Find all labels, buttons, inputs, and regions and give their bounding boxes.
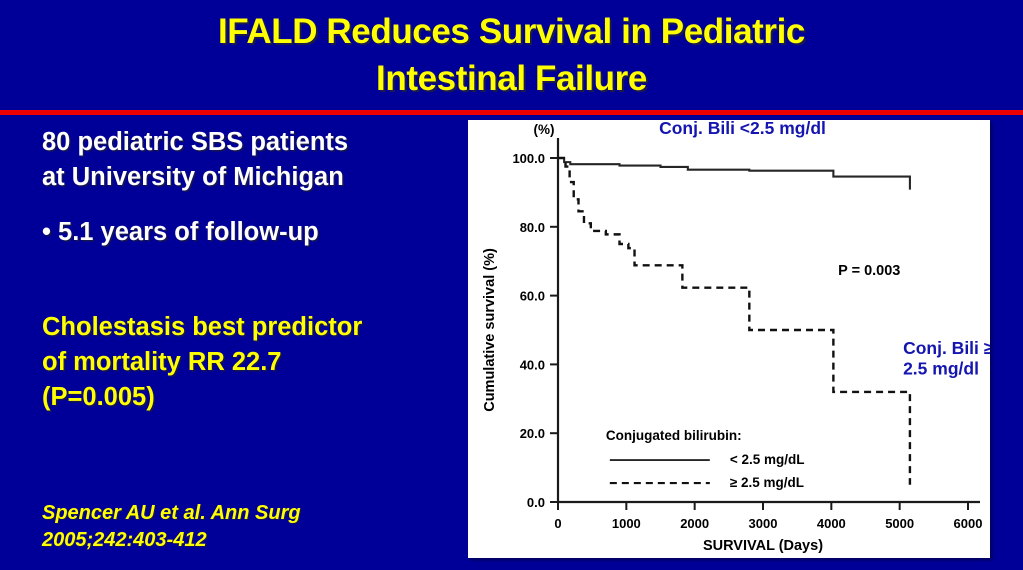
x-tick-label: 1000 bbox=[612, 516, 641, 531]
survival-chart-panel: 0.020.040.060.080.0100.0(%)0100020003000… bbox=[468, 120, 990, 558]
finding-line-2: of mortality RR 22.7 bbox=[42, 345, 452, 380]
x-tick-label: 0 bbox=[554, 516, 561, 531]
y-tick-label: 80.0 bbox=[520, 220, 545, 235]
cohort-line-2: at University of Michigan bbox=[42, 160, 452, 195]
slide-root: IFALD Reduces Survival in Pediatric Inte… bbox=[0, 0, 1023, 570]
chart-annotation-1: Conj. Bili <2.5 mg/dl bbox=[659, 120, 826, 138]
bullet-followup: • 5.1 years of follow-up bbox=[42, 215, 452, 250]
finding-block: Cholestasis best predictor of mortality … bbox=[42, 310, 452, 415]
y-axis-title: Cumulative survival (%) bbox=[482, 248, 498, 412]
title-divider-rule bbox=[0, 110, 1023, 115]
y-tick-label: 40.0 bbox=[520, 357, 545, 372]
y-unit-label: (%) bbox=[534, 122, 555, 137]
kaplan-meier-chart: 0.020.040.060.080.0100.0(%)0100020003000… bbox=[468, 120, 990, 558]
survival-curve-1 bbox=[558, 158, 910, 190]
y-tick-label: 100.0 bbox=[512, 151, 545, 166]
finding-line-1: Cholestasis best predictor bbox=[42, 310, 452, 345]
legend-label-1: < 2.5 mg/dL bbox=[730, 452, 805, 467]
page-title: IFALD Reduces Survival in Pediatric Inte… bbox=[0, 8, 1023, 102]
y-tick-label: 20.0 bbox=[520, 426, 545, 441]
chart-annotation-3: Conj. Bili ≥ bbox=[903, 338, 990, 358]
x-tick-label: 2000 bbox=[680, 516, 709, 531]
chart-annotation-2: P = 0.003 bbox=[838, 263, 900, 279]
cohort-line-1: 80 pediatric SBS patients bbox=[42, 125, 452, 160]
legend-label-2: ≥ 2.5 mg/dL bbox=[730, 475, 804, 490]
x-tick-label: 5000 bbox=[885, 516, 914, 531]
x-tick-label: 3000 bbox=[749, 516, 778, 531]
citation-line-2: 2005;242:403-412 bbox=[42, 527, 462, 554]
y-tick-label: 0.0 bbox=[527, 495, 545, 510]
y-tick-label: 60.0 bbox=[520, 289, 545, 304]
x-axis-title: SURVIVAL (Days) bbox=[703, 538, 823, 554]
legend-title: Conjugated bilirubin: bbox=[606, 428, 742, 443]
title-line-1: IFALD Reduces Survival in Pediatric bbox=[0, 8, 1023, 55]
citation: Spencer AU et al. Ann Surg 2005;242:403-… bbox=[42, 500, 462, 554]
finding-line-3: (P=0.005) bbox=[42, 380, 452, 415]
chart-annotation-4: 2.5 mg/dl bbox=[903, 359, 979, 379]
left-text-column: 80 pediatric SBS patients at University … bbox=[42, 125, 452, 415]
x-tick-label: 4000 bbox=[817, 516, 846, 531]
x-tick-label: 6000 bbox=[954, 516, 983, 531]
title-line-2: Intestinal Failure bbox=[0, 55, 1023, 102]
citation-line-1: Spencer AU et al. Ann Surg bbox=[42, 500, 462, 527]
